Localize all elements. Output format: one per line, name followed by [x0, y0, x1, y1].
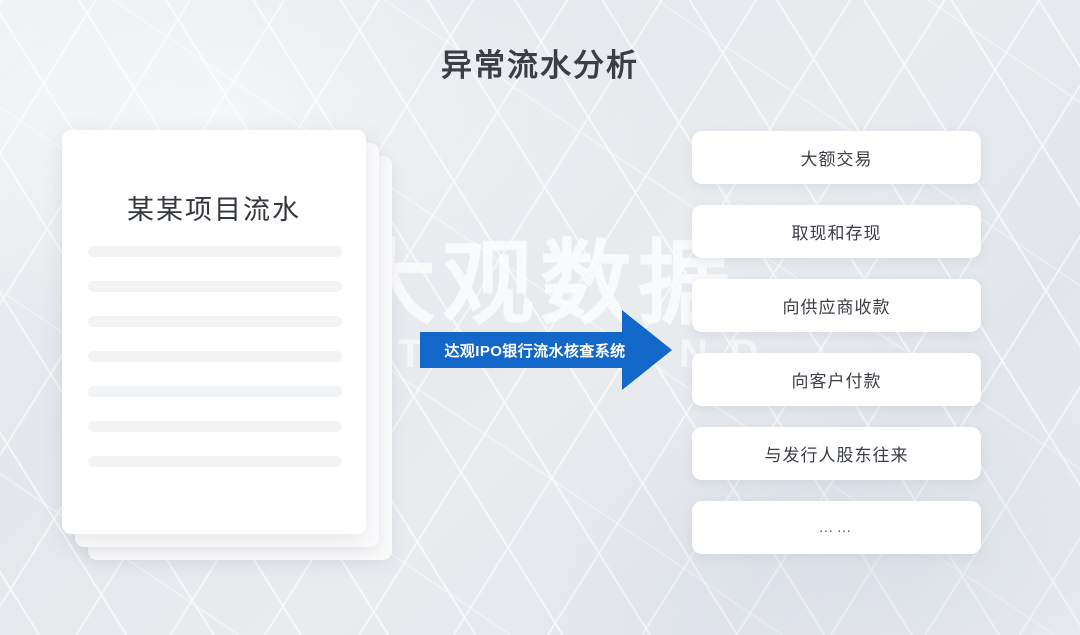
document-title: 某某项目流水: [62, 188, 366, 227]
document-placeholder-line: [88, 281, 342, 292]
category-label: 向供应商收款: [783, 293, 891, 318]
document-placeholder-line: [88, 316, 342, 327]
category-box-large-transaction[interactable]: 大额交易: [692, 131, 981, 184]
document-stack: 某某项目流水: [62, 130, 392, 560]
category-box-supplier-receipts[interactable]: 向供应商收款: [692, 279, 981, 332]
category-label: 取现和存现: [792, 219, 882, 244]
category-label: 大额交易: [801, 145, 873, 170]
category-list: 大额交易 取现和存现 向供应商收款 向客户付款 与发行人股东往来 ……: [692, 131, 981, 554]
document-sheet-front: 某某项目流水: [62, 130, 366, 534]
category-box-customer-payments[interactable]: 向客户付款: [692, 353, 981, 406]
category-box-more[interactable]: ……: [692, 501, 981, 554]
document-placeholder-line: [88, 456, 342, 467]
process-arrow-label: 达观IPO银行流水核查系统: [420, 308, 636, 392]
category-label: 与发行人股东往来: [765, 441, 909, 466]
category-box-issuer-shareholder-dealings[interactable]: 与发行人股东往来: [692, 427, 981, 480]
slide-canvas: 大观数据 DATA GRAND 异常流水分析 某某项目流水 达观IPO银行流水核…: [0, 0, 1080, 635]
document-placeholder-line: [88, 421, 342, 432]
document-placeholder-lines: [88, 246, 342, 467]
category-label: 向客户付款: [792, 367, 882, 392]
process-arrow: 达观IPO银行流水核查系统: [420, 308, 674, 392]
document-placeholder-line: [88, 246, 342, 257]
document-placeholder-line: [88, 351, 342, 362]
document-placeholder-line: [88, 386, 342, 397]
page-title: 异常流水分析: [0, 40, 1080, 85]
category-label: ……: [819, 519, 855, 536]
category-box-cash-withdraw-deposit[interactable]: 取现和存现: [692, 205, 981, 258]
